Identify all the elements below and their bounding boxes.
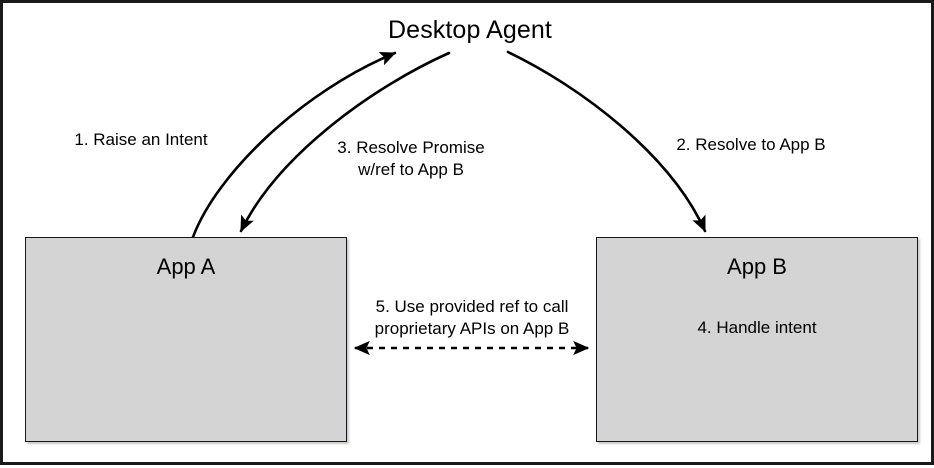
- app-a-box[interactable]: App A: [25, 237, 347, 442]
- app-b-title: App B: [597, 254, 917, 280]
- diagram-frame: Desktop Agent App A App B 4. Handle inte…: [0, 0, 934, 465]
- diagram-canvas: Desktop Agent App A App B 4. Handle inte…: [3, 3, 934, 468]
- edge-5-label: 5. Use provided ref to call proprietary …: [347, 296, 597, 341]
- desktop-agent-node-label: Desktop Agent: [3, 15, 934, 46]
- app-b-box[interactable]: App B 4. Handle intent: [596, 237, 918, 442]
- app-a-title: App A: [26, 254, 346, 280]
- edge-1-label: 1. Raise an Intent: [31, 129, 251, 151]
- edge-3-label: 3. Resolve Promise w/ref to App B: [301, 137, 521, 182]
- edge-2-label: 2. Resolve to App B: [641, 134, 861, 156]
- app-b-subtitle: 4. Handle intent: [597, 318, 917, 338]
